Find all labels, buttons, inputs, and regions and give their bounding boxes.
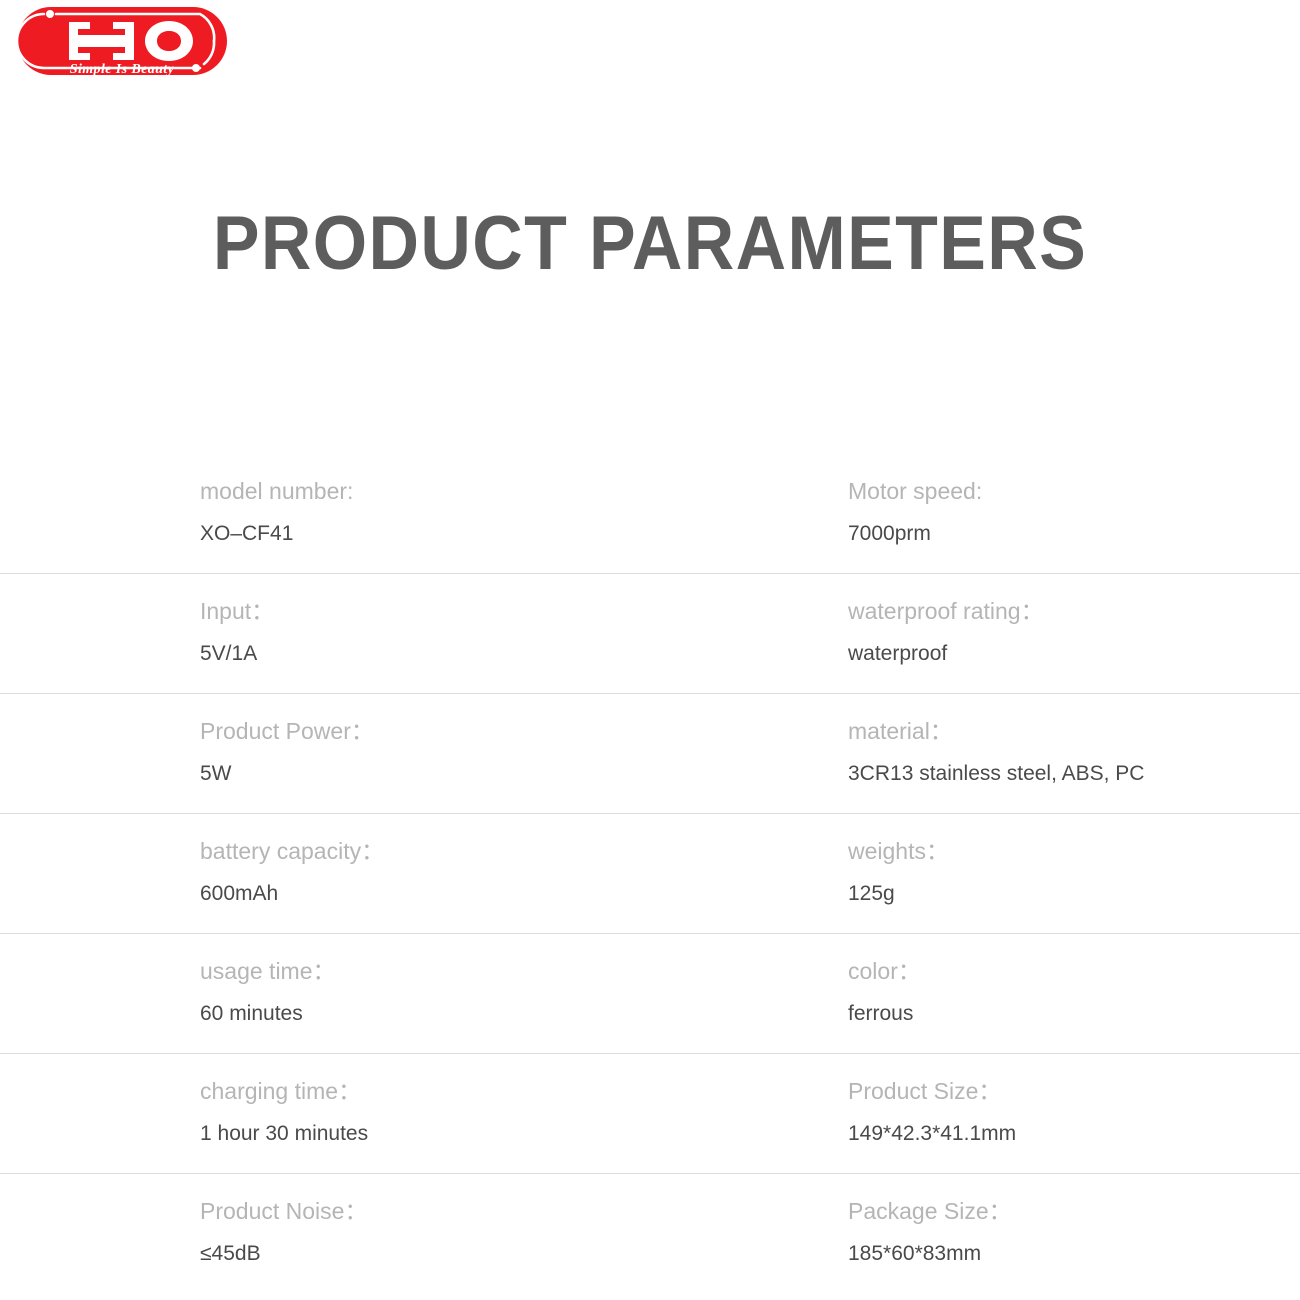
spec-label: color：: [848, 956, 921, 986]
spec-label: Product Power：: [200, 716, 374, 746]
spec-value: waterproof: [848, 640, 947, 668]
table-row: charging time： 1 hour 30 minutes Product…: [0, 1054, 1300, 1174]
spec-label: Input：: [200, 596, 274, 626]
spec-value: 125g: [848, 880, 895, 908]
page-title: PRODUCT PARAMETERS: [52, 196, 1248, 292]
spec-value: 3CR13 stainless steel, ABS, PC: [848, 760, 1144, 788]
spec-cell-product-size: Product Size： 149*42.3*41.1mm: [848, 1054, 1278, 1174]
spec-cell-motor-speed: Motor speed: 7000prm: [848, 454, 1278, 574]
spec-label: model number:: [200, 476, 353, 506]
spec-value: 149*42.3*41.1mm: [848, 1120, 1016, 1148]
spec-cell-product-power: Product Power： 5W: [200, 694, 820, 814]
spec-cell-package-size: Package Size： 185*60*83mm: [848, 1174, 1278, 1294]
spec-value: 185*60*83mm: [848, 1240, 981, 1268]
spec-value: 60 minutes: [200, 1000, 303, 1028]
table-row: Product Noise： ≤45dB Package Size： 185*6…: [0, 1174, 1300, 1294]
spec-value: 5V/1A: [200, 640, 257, 668]
svg-text:Simple Is Beauty: Simple Is Beauty: [70, 62, 175, 77]
spec-cell-product-noise: Product Noise： ≤45dB: [200, 1174, 820, 1294]
spec-cell-battery-capacity: battery capacity： 600mAh: [200, 814, 820, 934]
table-row: battery capacity： 600mAh weights： 125g: [0, 814, 1300, 934]
spec-label: Package Size：: [848, 1196, 1012, 1226]
spec-cell-usage-time: usage time： 60 minutes: [200, 934, 820, 1054]
brand-logo: Simple Is Beauty: [14, 2, 230, 80]
table-row: Product Power： 5W material： 3CR13 stainl…: [0, 694, 1300, 814]
spec-value: ≤45dB: [200, 1240, 261, 1268]
spec-label: battery capacity：: [200, 836, 384, 866]
spec-label: Product Noise：: [200, 1196, 367, 1226]
spec-value: XO–CF41: [200, 520, 293, 548]
spec-label: Motor speed:: [848, 476, 982, 506]
spec-value: ferrous: [848, 1000, 913, 1028]
product-parameters-table: model number: XO–CF41 Motor speed: 7000p…: [0, 454, 1300, 1294]
spec-value: 7000prm: [848, 520, 931, 548]
spec-cell-charging-time: charging time： 1 hour 30 minutes: [200, 1054, 820, 1174]
spec-value: 5W: [200, 760, 232, 788]
spec-cell-weights: weights： 125g: [848, 814, 1278, 934]
table-row: usage time： 60 minutes color： ferrous: [0, 934, 1300, 1054]
spec-cell-material: material： 3CR13 stainless steel, ABS, PC: [848, 694, 1278, 814]
spec-label: waterproof rating：: [848, 596, 1044, 626]
spec-label: usage time：: [200, 956, 336, 986]
spec-value: 1 hour 30 minutes: [200, 1120, 368, 1148]
spec-cell-color: color： ferrous: [848, 934, 1278, 1054]
spec-value: 600mAh: [200, 880, 278, 908]
table-row: model number: XO–CF41 Motor speed: 7000p…: [0, 454, 1300, 574]
spec-label: material：: [848, 716, 953, 746]
table-row: Input： 5V/1A waterproof rating： waterpro…: [0, 574, 1300, 694]
spec-label: charging time：: [200, 1076, 361, 1106]
xo-logo-icon: Simple Is Beauty: [14, 2, 230, 80]
spec-cell-model-number: model number: XO–CF41: [200, 454, 820, 574]
spec-label: weights：: [848, 836, 949, 866]
spec-cell-waterproof-rating: waterproof rating： waterproof: [848, 574, 1278, 694]
spec-label: Product Size：: [848, 1076, 1001, 1106]
spec-cell-input: Input： 5V/1A: [200, 574, 820, 694]
